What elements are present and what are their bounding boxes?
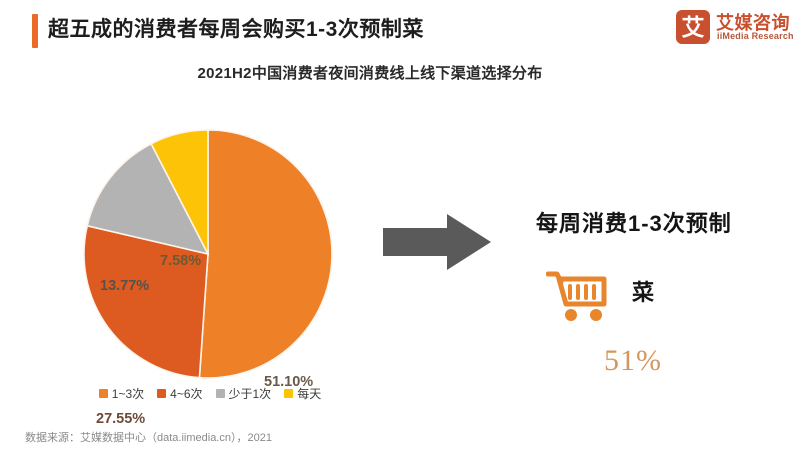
shopping-cart-icon: [546, 268, 608, 322]
brand-logo: 艾 艾媒咨询 iiMedia Research: [676, 8, 792, 48]
legend-label: 4~6次: [170, 385, 202, 402]
callout-headline-line1: 每周消费1-3次预制: [536, 206, 732, 238]
pie-chart: 51.10% 27.55% 13.77% 7.58%: [60, 118, 360, 398]
legend-label: 少于1次: [229, 385, 272, 402]
logo-name-en: iiMedia Research: [717, 31, 794, 41]
page-title: 超五成的消费者每周会购买1-3次预制菜: [48, 13, 424, 43]
arrow-right-svg: [383, 214, 491, 270]
shopping-cart-svg: [546, 268, 608, 322]
logo-mark-icon: 艾: [676, 10, 710, 44]
pie-label-4: 7.58%: [160, 253, 201, 269]
pie-slice: [199, 130, 332, 378]
chart-legend: 1~3次4~6次少于1次每天: [60, 385, 360, 402]
pie-slice-group: [84, 130, 332, 378]
page-subtitle: 2021H2中国消费者夜间消费线上线下渠道选择分布: [0, 62, 740, 83]
pie-label-2: 27.55%: [96, 411, 145, 427]
callout-headline-line2: 菜: [632, 275, 655, 307]
legend-label: 每天: [297, 385, 321, 402]
title-accent-bar: [32, 14, 38, 48]
pie-label-3: 13.77%: [100, 278, 149, 294]
legend-swatch-icon: [284, 389, 293, 398]
slide-canvas: 超五成的消费者每周会购买1-3次预制菜 2021H2中国消费者夜间消费线上线下渠…: [0, 0, 800, 450]
legend-item[interactable]: 4~6次: [157, 385, 202, 402]
legend-swatch-icon: [216, 389, 225, 398]
legend-item[interactable]: 1~3次: [99, 385, 144, 402]
legend-swatch-icon: [157, 389, 166, 398]
legend-label: 1~3次: [112, 385, 144, 402]
pie-chart-svg: [60, 118, 360, 398]
callout-stat-value: 51%: [604, 344, 662, 378]
legend-swatch-icon: [99, 389, 108, 398]
arrow-right-icon: [383, 214, 491, 270]
legend-item[interactable]: 少于1次: [216, 385, 272, 402]
legend-item[interactable]: 每天: [284, 385, 321, 402]
footer-source-note: 数据来源：艾媒数据中心（data.iimedia.cn），2021: [25, 429, 272, 445]
